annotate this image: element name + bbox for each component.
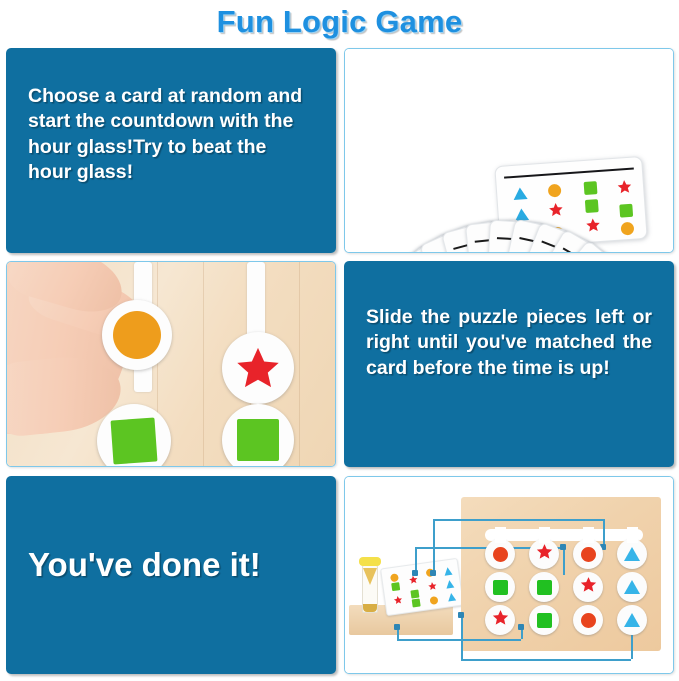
- shape-square: [584, 199, 598, 213]
- connector-dot: [560, 544, 566, 550]
- shape-square: [537, 580, 552, 595]
- board-piece[interactable]: [529, 572, 559, 602]
- instruction-2-text: Slide the puzzle pieces left or right un…: [366, 305, 652, 381]
- shape-triangle: [624, 547, 640, 561]
- board-piece[interactable]: [573, 605, 603, 635]
- success-text: You've done it!: [28, 544, 314, 587]
- connector-segment: [397, 639, 521, 641]
- hourglass-icon: [359, 557, 381, 615]
- instruction-1-text: Choose a card at random and start the co…: [28, 84, 314, 185]
- shape-circle: [390, 573, 399, 582]
- board-piece[interactable]: [617, 572, 647, 602]
- page-title: Fun Logic Game: [217, 4, 463, 40]
- shape-triangle: [444, 567, 453, 576]
- connector-dot: [394, 624, 400, 630]
- front-card-column-3: [576, 178, 606, 242]
- board-piece[interactable]: [617, 539, 647, 569]
- front-card-column-4: [610, 175, 640, 239]
- board-piece[interactable]: [485, 572, 515, 602]
- shape-square: [493, 580, 508, 595]
- shape-circle: [581, 547, 596, 562]
- shape-square: [537, 613, 552, 628]
- shape-triangle: [445, 580, 454, 589]
- board-piece[interactable]: [529, 539, 559, 569]
- board-column-2[interactable]: [529, 539, 559, 635]
- piece-red-star[interactable]: [222, 332, 294, 404]
- connector-segment: [461, 615, 463, 659]
- shape-square: [410, 590, 419, 599]
- board-piece[interactable]: [485, 539, 515, 569]
- hands-photo-illustration: [7, 262, 335, 466]
- hourglass-cap: [359, 557, 381, 566]
- board-photo-illustration: [345, 477, 673, 673]
- board-column-3[interactable]: [573, 539, 603, 635]
- star-icon: [585, 217, 601, 233]
- shape-triangle: [624, 613, 640, 627]
- connector-dot: [458, 612, 464, 618]
- star-icon: [547, 202, 563, 218]
- product-infographic: Fun Logic Game Choose a card at random a…: [0, 0, 679, 681]
- star-icon: [616, 178, 632, 194]
- shape-star: [616, 178, 632, 199]
- board-piece[interactable]: [617, 605, 647, 635]
- shape-square: [412, 599, 421, 608]
- shape-star: [392, 591, 403, 610]
- shape-star: [536, 543, 553, 565]
- star-icon: [492, 609, 509, 626]
- board-piece[interactable]: [529, 605, 559, 635]
- board-piece[interactable]: [573, 539, 603, 569]
- star-icon: [427, 581, 437, 591]
- board-slot-stem: [495, 527, 506, 543]
- hourglass-sand-bottom: [363, 604, 377, 612]
- board-piece[interactable]: [573, 572, 603, 602]
- panel-hands-photo: [6, 261, 336, 467]
- board-slot-stem: [583, 527, 594, 543]
- connector-dot: [518, 624, 524, 630]
- piece-green-square-right[interactable]: [222, 404, 294, 467]
- card-fan-illustration: [345, 49, 673, 252]
- board-column-4[interactable]: [617, 539, 647, 635]
- connector-segment: [461, 659, 631, 661]
- piece-green-square-left[interactable]: [97, 404, 171, 467]
- shape-square: [391, 582, 400, 591]
- shape-star: [547, 202, 563, 223]
- shape-circle: [620, 222, 634, 236]
- connector-segment: [603, 519, 605, 547]
- shape-star: [426, 577, 437, 596]
- shape-triangle: [447, 592, 456, 601]
- green-square-shape-2: [237, 419, 279, 461]
- panel-card-fan-photo: [344, 48, 674, 253]
- panel-instruction-2: Slide the puzzle pieces left or right un…: [344, 261, 674, 467]
- shape-triangle: [624, 580, 640, 594]
- connector-dot: [430, 570, 436, 576]
- panel-instruction-1: Choose a card at random and start the co…: [6, 48, 336, 253]
- instruction-2-text-wrap: Slide the puzzle pieces left or right un…: [344, 305, 674, 381]
- shape-square: [583, 181, 597, 195]
- connector-segment: [433, 519, 435, 573]
- orange-circle-shape: [113, 311, 161, 359]
- hourglass-sand-top: [363, 568, 377, 585]
- reference-card-column-4: [439, 564, 460, 604]
- shape-star: [492, 609, 509, 631]
- piece-orange-circle[interactable]: [102, 300, 172, 370]
- instruction-1-text-wrap: Choose a card at random and start the co…: [6, 84, 336, 185]
- red-star-shape: [235, 345, 281, 391]
- board-slot-stem: [627, 527, 638, 543]
- panel-board-photo: [344, 476, 674, 674]
- connector-segment: [563, 547, 565, 575]
- connector-segment: [433, 519, 605, 521]
- instruction-3-text-wrap: You've done it!: [6, 544, 336, 587]
- title-bar: Fun Logic Game: [0, 0, 679, 44]
- shape-square: [619, 204, 633, 218]
- shape-circle: [493, 547, 508, 562]
- board-piece[interactable]: [485, 605, 515, 635]
- shape-circle: [547, 183, 561, 197]
- shape-triangle: [513, 187, 528, 200]
- star-icon: [393, 595, 403, 605]
- star-icon: [580, 576, 597, 593]
- shape-circle: [430, 596, 439, 605]
- shape-star: [580, 576, 597, 598]
- connector-dot: [412, 570, 418, 576]
- star-icon: [536, 543, 553, 560]
- board-slot-stem: [539, 527, 550, 543]
- shape-star: [585, 217, 601, 238]
- board-column-1[interactable]: [485, 539, 515, 635]
- green-square-shape: [111, 418, 158, 465]
- panel-instruction-3: You've done it!: [6, 476, 336, 674]
- shape-circle: [581, 613, 596, 628]
